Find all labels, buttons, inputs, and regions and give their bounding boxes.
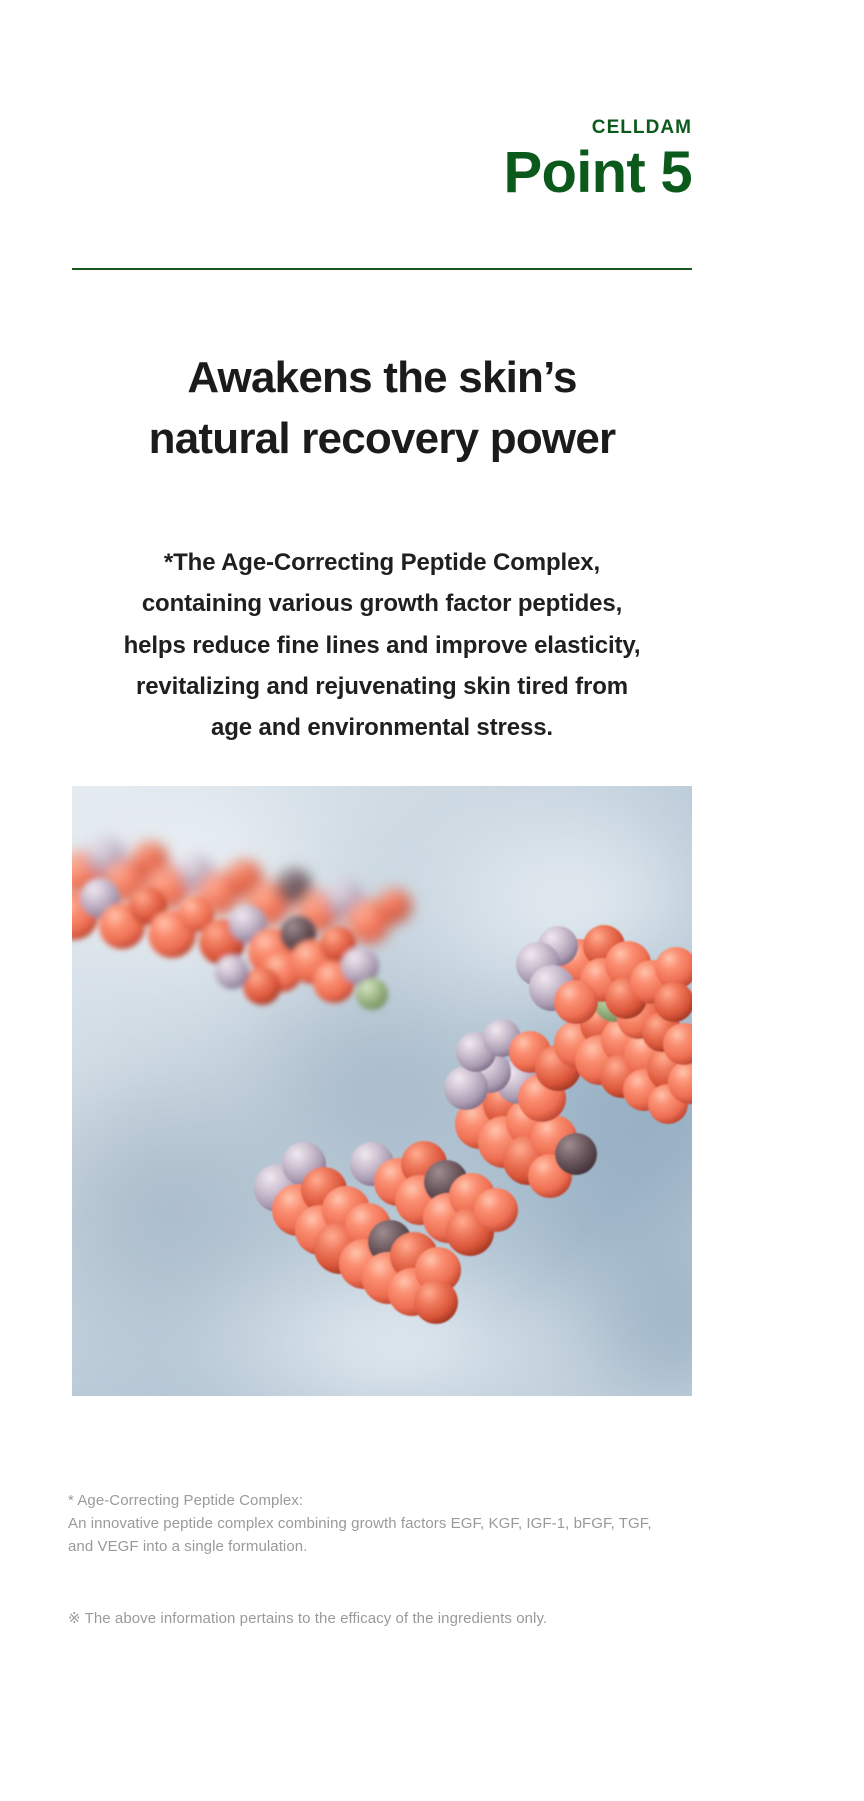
footnote-complex-definition: * Age-Correcting Peptide Complex: An inn… <box>68 1490 768 1558</box>
main-heading-line-1: Awakens the skin’s <box>72 348 692 409</box>
body-line-1: *The Age-Correcting Peptide Complex, <box>72 542 692 583</box>
body-line-3: helps reduce fine lines and improve elas… <box>72 625 692 666</box>
body-line-4: revitalizing and rejuvenating skin tired… <box>72 666 692 707</box>
brand-label: CELLDAM <box>72 118 692 137</box>
body-line-5: age and environmental stress. <box>72 707 692 748</box>
footnote-line-3: and VEGF into a single formulation. <box>68 1536 768 1559</box>
footnote-line-2: An innovative peptide complex combining … <box>68 1513 768 1536</box>
header-divider <box>72 268 692 270</box>
main-heading: Awakens the skin’s natural recovery powe… <box>72 348 692 469</box>
header: CELLDAM Point 5 <box>72 118 692 202</box>
peptide-molecule-image <box>72 786 692 1396</box>
body-line-2: containing various growth factor peptide… <box>72 583 692 624</box>
footnote-line-1: * Age-Correcting Peptide Complex: <box>68 1490 768 1513</box>
footnote-disclaimer: ※ The above information pertains to the … <box>68 1608 768 1631</box>
page-title: Point 5 <box>72 143 692 202</box>
promo-page: CELLDAM Point 5 Awakens the skin’s natur… <box>0 0 864 1801</box>
body-copy: *The Age-Correcting Peptide Complex, con… <box>72 542 692 748</box>
molecule-illustration <box>72 786 692 1396</box>
main-heading-line-2: natural recovery power <box>72 409 692 470</box>
